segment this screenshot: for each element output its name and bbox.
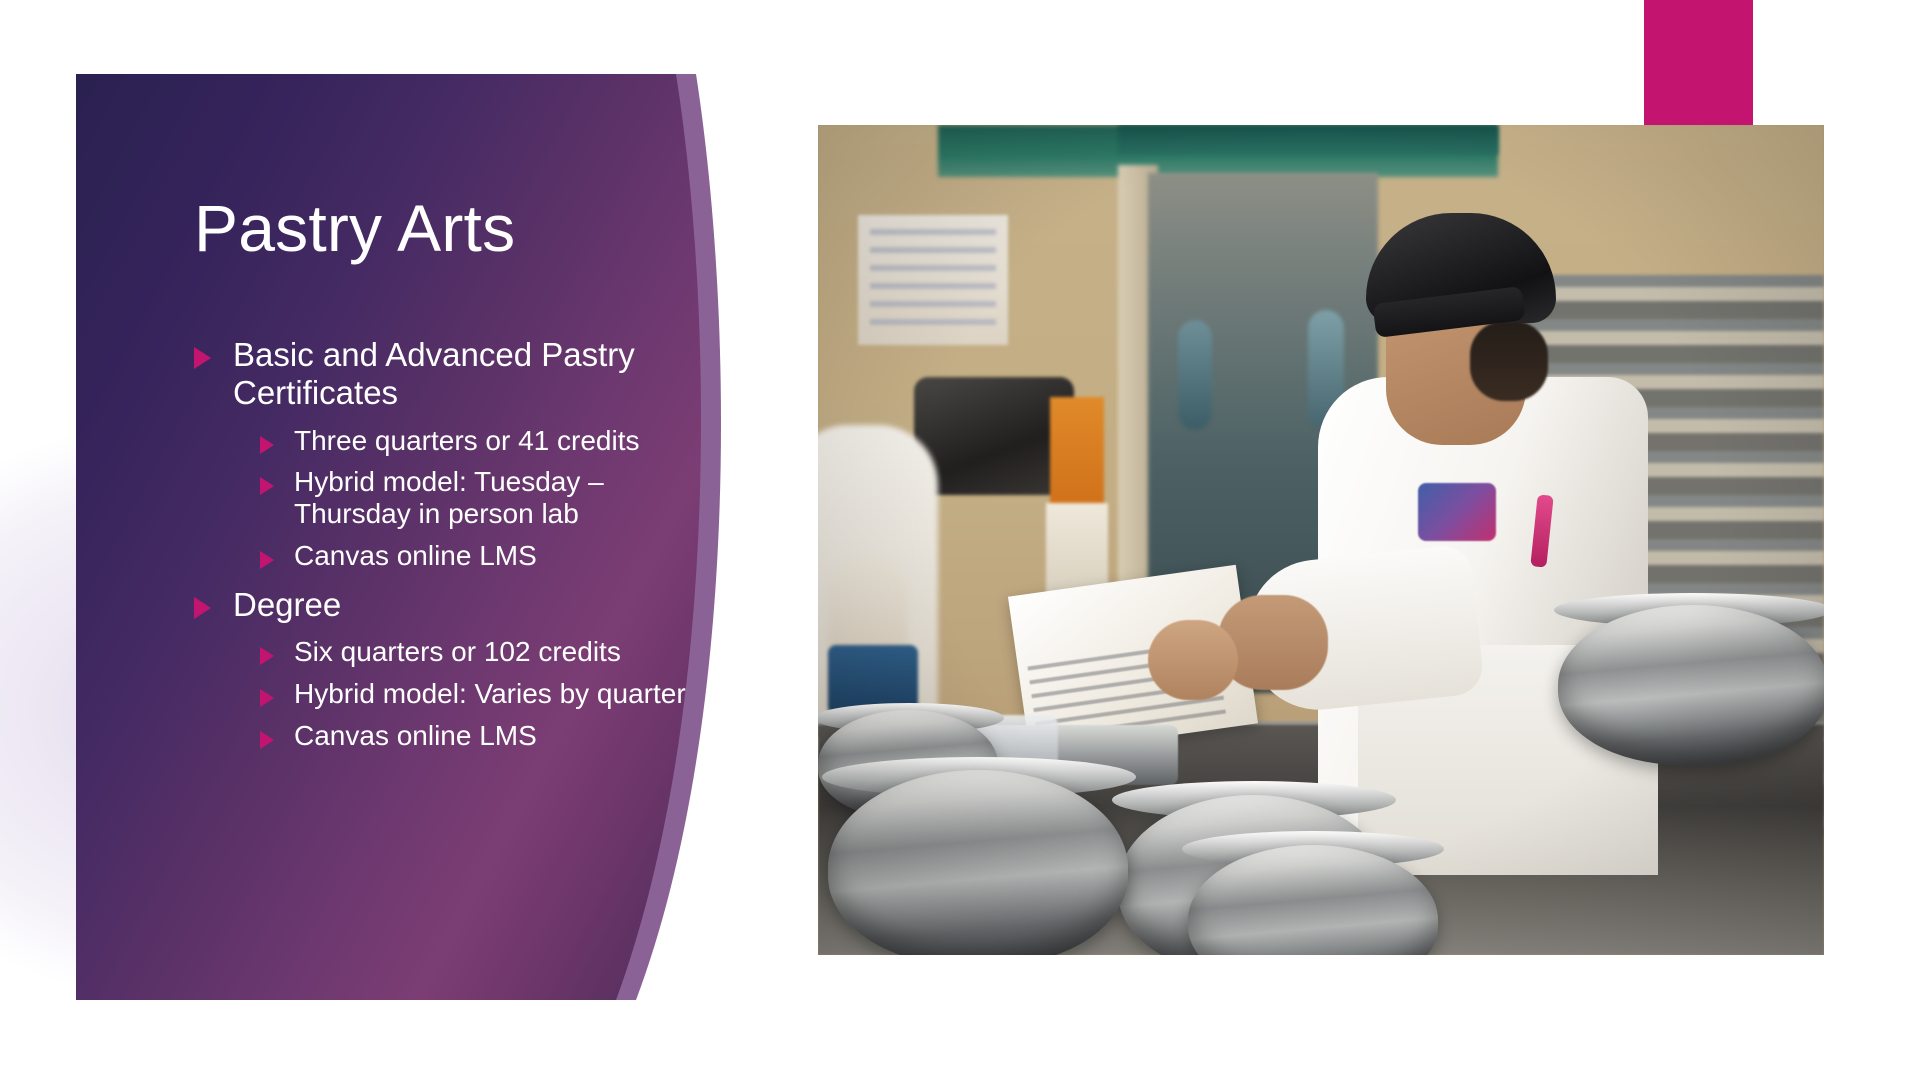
list-item-label: Three quarters or 41 credits (294, 425, 640, 457)
list-item-label: Six quarters or 102 credits (294, 636, 621, 668)
triangle-bullet-icon (260, 477, 274, 495)
triangle-bullet-icon (260, 647, 274, 665)
list-item-label: Hybrid model: Varies by quarter (294, 678, 686, 710)
list-item: Hybrid model: Varies by quarter (260, 678, 714, 710)
list-item: Six quarters or 102 credits (260, 636, 714, 668)
list-item-label: Canvas online LMS (294, 720, 537, 752)
list-item: Canvas online LMS (260, 540, 714, 572)
list-item: Three quarters or 41 credits (260, 425, 714, 457)
list-item-label: Basic and Advanced Pastry Certificates (233, 336, 714, 413)
bullet-list: Basic and Advanced Pastry Certificates T… (194, 336, 714, 762)
triangle-bullet-icon (260, 731, 274, 749)
triangle-bullet-icon (260, 436, 274, 454)
list-item-label: Hybrid model: Tuesday – Thursday in pers… (294, 466, 714, 530)
triangle-bullet-icon (194, 597, 211, 619)
list-item: Canvas online LMS (260, 720, 714, 752)
page-title: Pastry Arts (194, 194, 714, 263)
slide-text-content: Pastry Arts Basic and Advanced Pastry Ce… (76, 74, 776, 1000)
list-item-label: Degree (233, 586, 341, 624)
list-item: Hybrid model: Tuesday – Thursday in pers… (260, 466, 714, 530)
pastry-kitchen-photo (818, 125, 1824, 955)
photo-vignette (818, 125, 1824, 955)
slide-canvas: Pastry Arts Basic and Advanced Pastry Ce… (0, 0, 1920, 1080)
list-item-label: Canvas online LMS (294, 540, 537, 572)
list-item: Basic and Advanced Pastry Certificates (194, 336, 714, 413)
triangle-bullet-icon (194, 347, 211, 369)
triangle-bullet-icon (260, 689, 274, 707)
list-item: Degree (194, 586, 714, 624)
triangle-bullet-icon (260, 551, 274, 569)
